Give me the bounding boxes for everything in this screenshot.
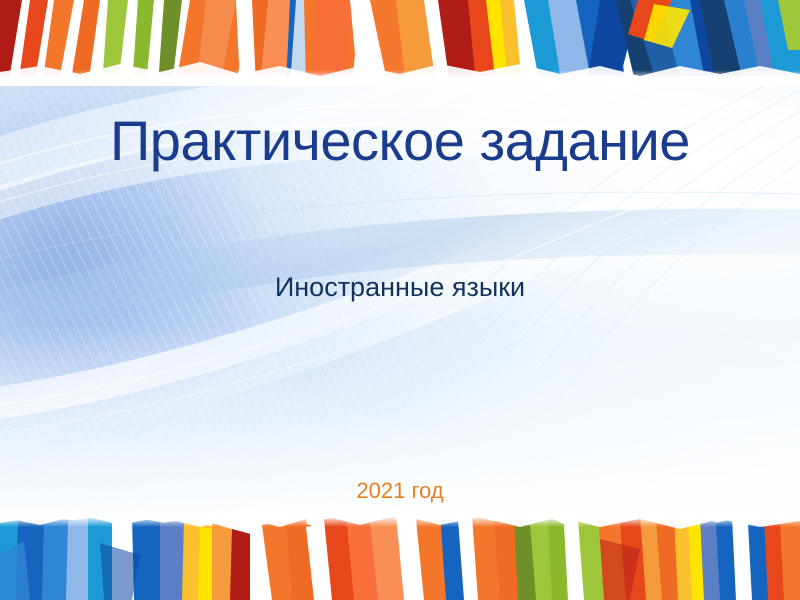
slide-title: Практическое задание xyxy=(0,112,800,171)
presentation-slide: Практическое задание Иностранные языки 2… xyxy=(0,0,800,600)
slide-year: 2021 год xyxy=(0,478,800,504)
slide-subtitle: Иностранные языки xyxy=(0,272,800,303)
